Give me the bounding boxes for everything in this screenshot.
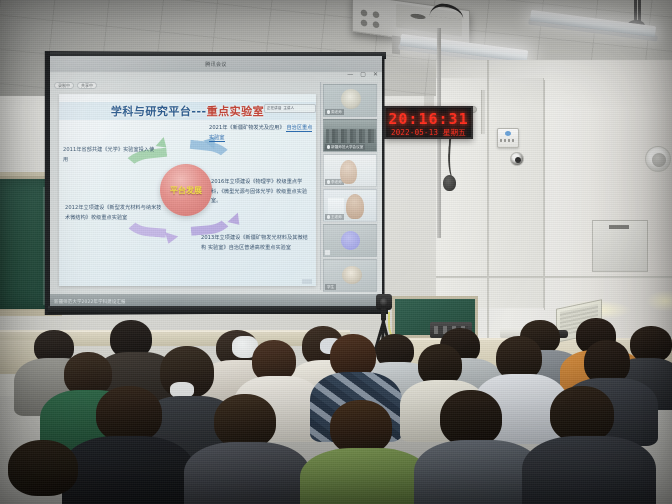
maximize-icon[interactable]: ▢ [360,72,366,78]
clock-date: 2022-05-13 星期五 [386,127,471,138]
slide-text-top-right: 2021年《新疆矿物发光及应用》 自治区重点实验室 [209,124,313,143]
mic-muted-icon [327,110,330,114]
wall-seam [436,276,672,278]
person-head [330,400,392,454]
participant-tile[interactable] [323,224,377,257]
audience-area [0,300,672,504]
slide-text-top-left: 2011年省部共建《光学》实验室投入使用 [63,146,159,165]
participant-tile[interactable]: 李老师 [323,154,377,187]
participant-name: 周老师 [325,109,344,115]
slide-title-main: 学科与研究平台 [111,105,192,118]
person-head [96,386,162,442]
panel-led-icon [505,131,511,136]
slide-center-label: 平台发展 [170,185,202,196]
participant-label: 新疆师范大学会议室 [331,145,363,150]
ceiling-rod [638,0,641,22]
electrical-panel [592,220,648,272]
slide-text-mid-right: 2016年立项建设《物理学》校级重点学科，《微型光源与固体光学》校级重点实验室。 [211,178,311,207]
avatar [341,231,360,250]
person-head [8,440,78,496]
slide-title-separator: --- [191,105,206,118]
surveillance-camera-icon [510,152,524,166]
mic-muted-icon [327,180,330,184]
classroom-scene: 20:16:31 2022-05-13 星期五 腾讯会议 — ▢ ✕ 录制中 共… [0,0,672,504]
arrow-head-icon [162,232,178,246]
participant-name: 学生 [325,284,336,290]
close-icon[interactable]: ✕ [373,72,378,78]
ceiling-rod [634,0,637,20]
slide-footer-mark [302,279,312,284]
person-body [62,436,194,504]
projection-screen[interactable]: 腾讯会议 — ▢ ✕ 录制中 共享中 学科与研究平台---重点实验室 [50,56,382,308]
mic-on-icon [327,145,330,149]
person-body [184,442,310,504]
hanging-microphone-icon [443,175,456,191]
speaking-toast: 正在讲话 主讲人 [264,104,316,113]
presentation-slide: 学科与研究平台---重点实验室 平台发展 2011年省部共建《光学》实验室投入使… [59,94,316,286]
participant-tile[interactable]: 学生 [323,259,377,292]
slide-text-bottom-left: 2012年立项建设《新型发光材料与纳米技术微结构》校级重点实验室 [65,204,163,223]
slide-text-bottom-right: 2013年立项建设《新疆矿物发光材料及其微结构 实验室》自治区普通高校重点实验室 [201,234,313,253]
participant-label: 周老师 [331,110,342,115]
led-clock: 20:16:31 2022-05-13 星期五 [384,106,473,139]
person-head [550,386,614,442]
minimize-icon[interactable]: — [347,72,353,78]
participant-name: 王老师 [325,214,344,220]
slide-text-top-right-line1: 2021年《新疆矿物发光及应用》 [209,125,285,131]
window-controls[interactable]: — ▢ ✕ [347,72,378,78]
meeting-status-chips: 录制中 共享中 [54,82,97,89]
participant-name: 新疆师范大学会议室 [325,144,365,150]
meeting-window-title: 腾讯会议 [205,61,227,68]
wall-speaker-icon [645,146,671,172]
toast-status: 主讲人 [283,106,294,111]
participant-label: 王老师 [331,215,342,220]
participant-label: 李老师 [331,180,342,185]
wall-conduit [481,90,485,134]
person-head [440,390,502,446]
sharing-chip[interactable]: 共享中 [77,82,97,89]
mic-on-icon [327,215,330,219]
person-body [300,448,430,504]
participant-tile[interactable]: 周老师 [323,84,377,117]
meeting-window-titlebar: 腾讯会议 [50,56,382,72]
clock-time: 20:16:31 [386,110,471,128]
slide-title-accent: 重点实验室 [207,105,265,118]
slide-center-circle: 平台发展 [160,164,212,216]
participant-label: 学生 [327,285,334,290]
recording-chip[interactable]: 录制中 [54,82,74,89]
participant-name: 李老师 [325,179,344,185]
person-body [522,436,656,504]
participant-rail[interactable]: 周老师 新疆师范大学会议室 李老师 王老师 [320,82,378,290]
projector-vent-icon [358,6,384,32]
participant-tile[interactable]: 新疆师范大学会议室 [323,119,377,152]
clock-mount [424,96,434,106]
participant-tile[interactable]: 王老师 [323,189,377,222]
person-head [630,326,672,362]
panel-label [500,139,516,142]
mic-muted-icon [325,250,330,255]
slide-text-bottom-right-line2: 实验室》自治区普通高校重点实验室 [208,245,291,251]
toast-mic-icon: 正在讲话 [267,106,281,111]
person-head [214,394,276,448]
